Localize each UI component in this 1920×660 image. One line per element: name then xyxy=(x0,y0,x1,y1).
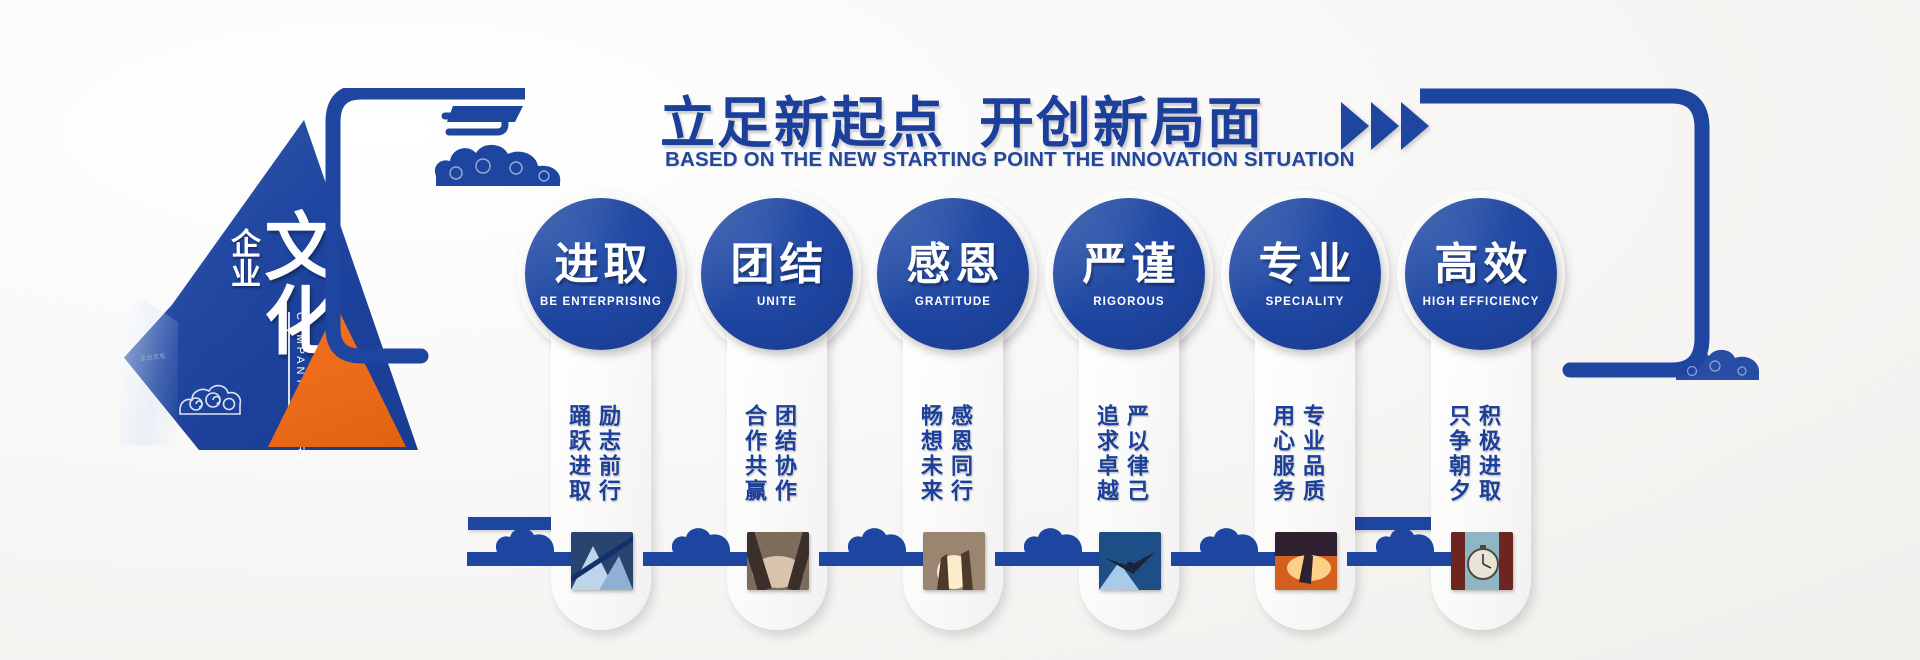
pill-circle: 感恩 GRATITUDE xyxy=(877,198,1029,350)
photo-sunset-runner xyxy=(1275,532,1337,590)
pill-vline-2: 用心服务 xyxy=(1269,404,1294,504)
photo-art xyxy=(1275,532,1337,590)
value-pill[interactable]: 团结 UNITE 团结协作 合作共赢 xyxy=(701,232,853,630)
chevron-right-icon xyxy=(1341,102,1369,150)
pill-vline-2: 追求卓越 xyxy=(1093,404,1118,504)
pill-title-en: GRATITUDE xyxy=(915,296,991,308)
pill-vline-2: 畅想未来 xyxy=(917,404,942,504)
value-pill[interactable]: 感恩 GRATITUDE 感恩同行 畅想未来 xyxy=(877,232,1029,630)
headline-right: 开创新局面 xyxy=(979,91,1264,155)
pill-title-cn: 高效 xyxy=(1430,241,1533,289)
pill-vline-1: 励志前行 xyxy=(595,404,620,504)
value-pill[interactable]: 专业 SPECIALITY 专业品质 用心服务 xyxy=(1229,232,1381,630)
triangle-edge-highlight xyxy=(118,295,178,445)
pill-vline-2: 踊跃进取 xyxy=(565,404,590,504)
pill-circle: 团结 UNITE xyxy=(701,198,853,350)
photo-mountain-climb xyxy=(571,532,633,590)
pill-circle: 专业 SPECIALITY xyxy=(1229,198,1381,350)
pill-title-en: UNITE xyxy=(757,296,797,308)
photo-eagle-flight xyxy=(1099,532,1161,590)
cloud-rail-icon xyxy=(1347,514,1451,566)
pill-title-cn: 专业 xyxy=(1254,241,1357,289)
photo-stopwatch xyxy=(1451,532,1513,590)
pill-vertical-text: 严以律己 追求卓越 xyxy=(1093,404,1148,504)
pill-vertical-text: 积极进取 只争朝夕 xyxy=(1445,404,1500,504)
auspicious-cloud-icon xyxy=(176,356,254,416)
photo-art xyxy=(747,532,809,590)
pill-vertical-text: 团结协作 合作共赢 xyxy=(741,404,796,504)
pill-vertical-text: 专业品质 用心服务 xyxy=(1269,404,1324,504)
pill-title-en: RIGOROUS xyxy=(1093,296,1164,308)
photo-art xyxy=(1099,532,1161,590)
value-pill[interactable]: 高效 HIGH EFFICIENCY 积极进取 只争朝夕 xyxy=(1405,232,1557,630)
pill-title-en: HIGH EFFICIENCY xyxy=(1423,296,1540,308)
photo-helping-hand-sunset xyxy=(923,532,985,590)
photo-art xyxy=(1451,532,1513,590)
page-title: 立足新起点开创新局面 xyxy=(660,78,1264,158)
pill-title-cn: 团结 xyxy=(726,241,829,289)
value-pill[interactable]: 进取 BE ENTERPRISING 励志前行 踊跃进取 xyxy=(525,232,677,630)
pill-vertical-text: 励志前行 踊跃进取 xyxy=(565,404,620,504)
value-pill[interactable]: 严谨 RIGOROUS 严以律己 追求卓越 xyxy=(1053,232,1205,630)
pill-title-cn: 感恩 xyxy=(902,241,1005,289)
chevron-right-icon xyxy=(1371,102,1399,150)
auspicious-cloud-right-icon xyxy=(1672,338,1768,382)
value-pill-list: 进取 BE ENTERPRISING 励志前行 踊跃进取 xyxy=(525,232,1597,632)
headline-left: 立足新起点 xyxy=(660,91,945,155)
pill-vline-2: 合作共赢 xyxy=(741,404,766,504)
pill-title-en: SPECIALITY xyxy=(1266,296,1345,308)
cloud-rail-icon xyxy=(995,514,1099,566)
pill-vline-1: 专业品质 xyxy=(1299,404,1324,504)
page-subtitle: BASED ON THE NEW STARTING POINT THE INNO… xyxy=(665,148,1355,172)
pill-vline-1: 严以律己 xyxy=(1123,404,1148,504)
pill-circle: 进取 BE ENTERPRISING xyxy=(525,198,677,350)
pill-title-cn: 严谨 xyxy=(1078,241,1181,289)
pill-title-cn: 进取 xyxy=(550,241,653,289)
pill-vline-1: 积极进取 xyxy=(1475,404,1500,504)
cloud-rail-icon xyxy=(1171,514,1275,566)
photo-hands-together xyxy=(747,532,809,590)
photo-art xyxy=(571,532,633,590)
chevron-arrow-group xyxy=(1341,102,1429,150)
pill-circle: 严谨 RIGOROUS xyxy=(1053,198,1205,350)
pill-vline-2: 只争朝夕 xyxy=(1445,404,1470,504)
cloud-rail-icon xyxy=(467,514,571,566)
cloud-rail-icon xyxy=(819,514,923,566)
pill-vline-1: 团结协作 xyxy=(771,404,796,504)
cloud-rail-icon xyxy=(643,514,747,566)
pill-circle: 高效 HIGH EFFICIENCY xyxy=(1405,198,1557,350)
chevron-right-icon xyxy=(1401,102,1429,150)
photo-art xyxy=(923,532,985,590)
pill-vline-1: 感恩同行 xyxy=(947,404,972,504)
pill-title-en: BE ENTERPRISING xyxy=(540,296,662,308)
auspicious-cloud-top-icon xyxy=(428,126,568,188)
culture-wall-canvas: 企业 文化 COMPANY CULTURE 企业文化 xyxy=(0,0,1920,660)
pill-vertical-text: 感恩同行 畅想未来 xyxy=(917,404,972,504)
